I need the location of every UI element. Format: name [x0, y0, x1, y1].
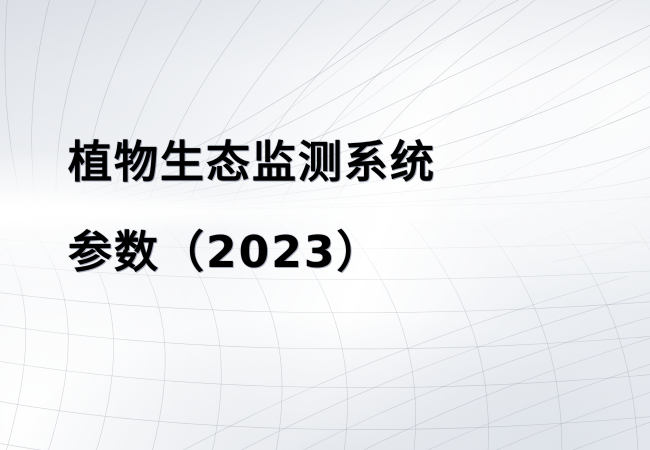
title-text-block: 植物生态监测系统 参数（2023）	[68, 118, 436, 298]
title-slide: 植物生态监测系统 参数（2023）	[0, 0, 650, 450]
title-line-2: 参数（2023）	[68, 208, 436, 298]
title-line-1: 植物生态监测系统	[68, 118, 436, 208]
